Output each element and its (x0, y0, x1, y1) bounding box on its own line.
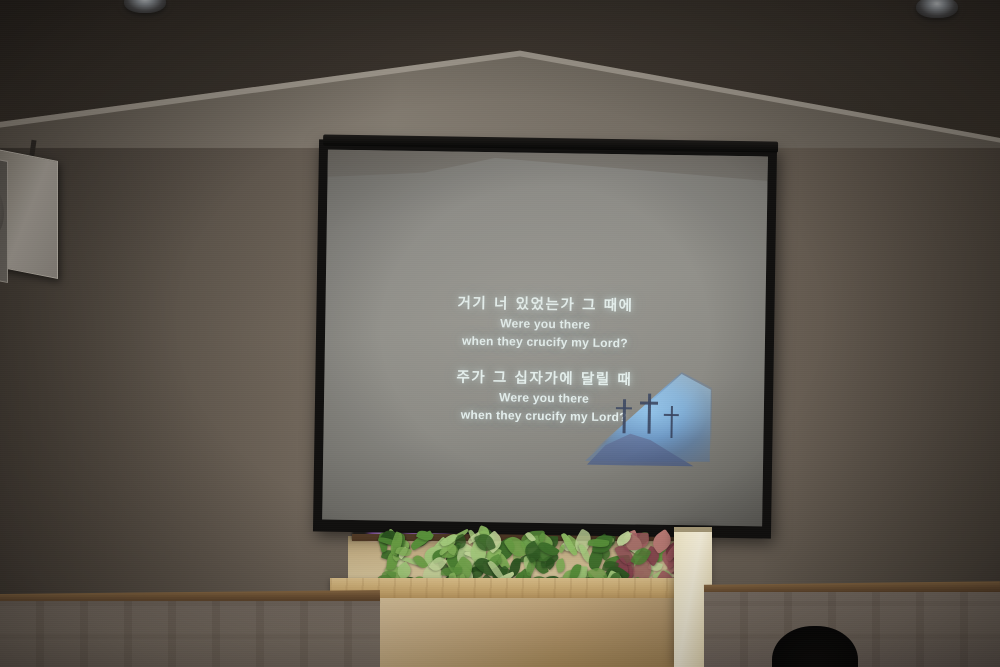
plant-leaf (587, 538, 609, 548)
wall-speaker-body (0, 143, 58, 279)
photograph-scene: 거기 너 있었는가 그 때에 Were you there when they … (0, 0, 1000, 667)
pillar-cap (674, 527, 712, 532)
ceiling-light-icon-right (916, 0, 958, 18)
projection-screen[interactable]: 거기 너 있었는가 그 때에 Were you there when they … (313, 139, 777, 538)
screen-surface: 거기 너 있었는가 그 때에 Were you there when they … (322, 150, 768, 527)
lower-wall-texture-left (0, 601, 380, 667)
planter-ledge-grain (330, 578, 704, 600)
planter-front-sheen (380, 598, 704, 667)
screen-vignette (322, 150, 768, 527)
wall-shadow-right (760, 148, 1000, 608)
